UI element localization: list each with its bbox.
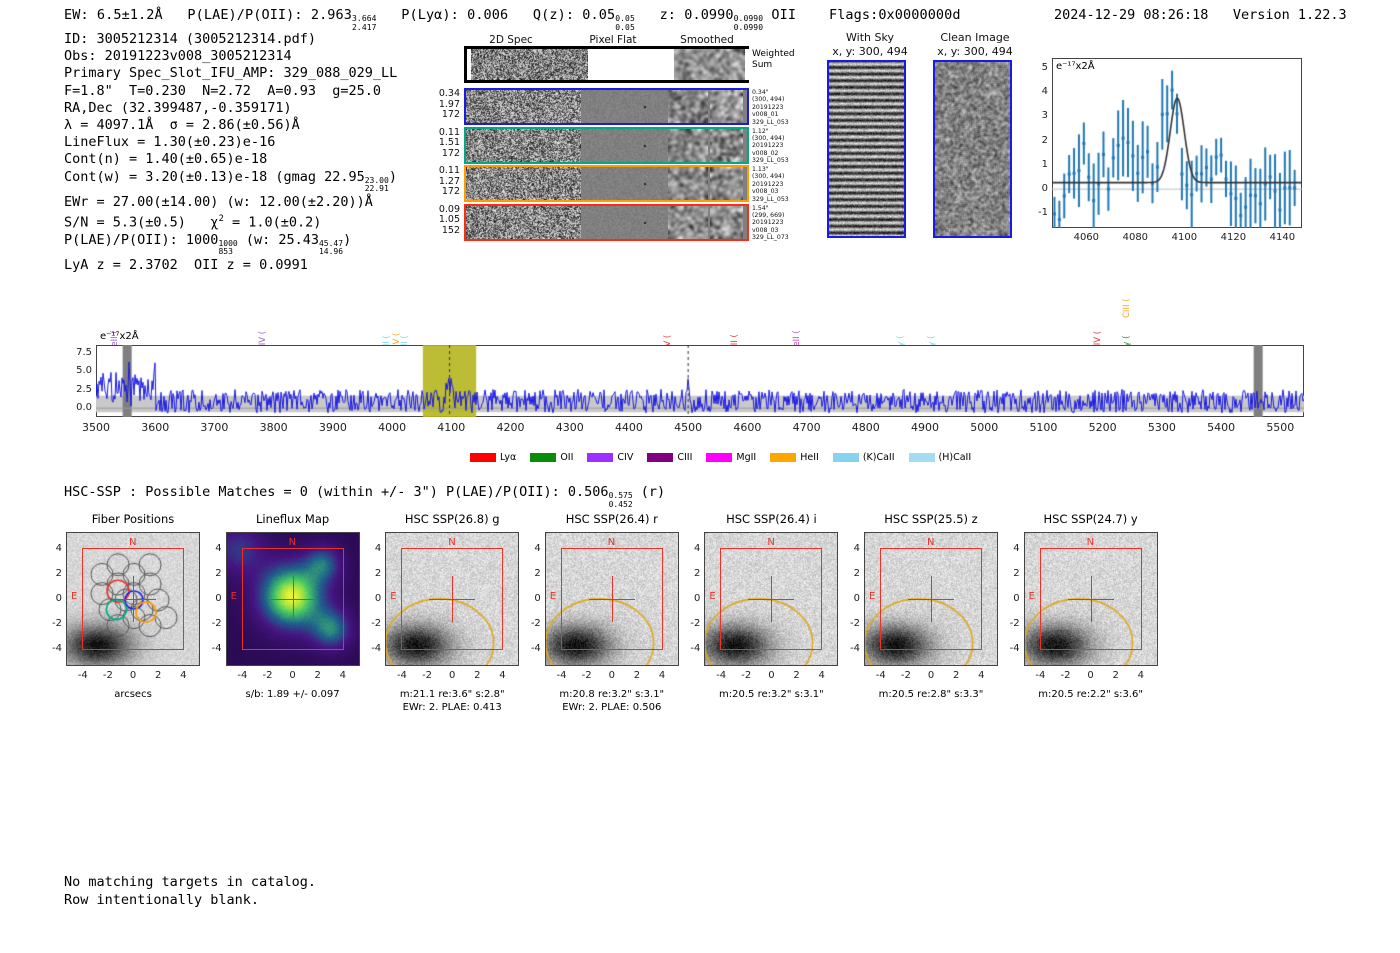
thumbnail-y-tick: 2 [521,568,541,579]
detection-info-block: ID: 3005212314 (3005212314.pdf) Obs: 201… [64,31,397,274]
cutout-subtitle-clean-image: x, y: 300, 494 [920,45,1030,58]
spectrum-x-tick: 5200 [1081,421,1125,434]
thumbnail-east-label: E [869,591,875,602]
thumbnail-caption-line-2: EWr: 2. PLAE: 0.506 [523,701,701,714]
header-version: Version 1.22.3 [1233,7,1347,23]
spectrum-legend-item: MgII [706,452,756,463]
thumbnail-y-tick: 2 [361,568,381,579]
thumbnail-east-label: E [550,591,556,602]
spectrum-x-tick: 4100 [429,421,473,434]
thumbnail-y-tick: -4 [361,643,381,654]
thumbnail-crosshair-v [293,576,294,622]
thumbnail-x-tick: -2 [96,670,120,681]
info-lambda-sigma: λ = 4097.1Å σ = 2.86(±0.56)Å [64,117,397,134]
spec2d-fiber-rows [464,88,749,242]
header-flags: Flags:0x0000000d [829,7,961,23]
full-spectrum-plot: e⁻¹⁷x2Å [96,345,1304,417]
thumbnail-north-label: N [927,537,934,548]
spectrum-legend-swatch [770,453,796,462]
thumbnail-x-tick: -2 [575,670,599,681]
spectrum-legend-label: CIII [677,452,692,463]
thumbnail-y-tick: -2 [1000,618,1020,629]
spectrum-legend-swatch [647,453,673,462]
spec2d-row-right-labels: 1.54"(299, 669)20191223v008_03329_LL_073 [752,205,798,242]
spectrum-x-tick: 5300 [1140,421,1184,434]
thumbnail-title: HSC SSP(24.7) y [1010,512,1172,526]
thumbnail-x-tick: 0 [600,670,624,681]
spectrum-y-tick: 7.5 [62,347,92,358]
line-fit-y-tick: 1 [1026,159,1048,170]
line-fit-x-tick: 4080 [1119,232,1151,243]
thumbnail-north-label: N [129,537,136,548]
spectrum-legend-label: (H)CaII [939,452,972,463]
thumbnail-y-tick: 4 [202,543,222,554]
info-plae-poii: P(LAE)/P(OII): 10001000853 (w: 25.4345.4… [64,232,397,257]
thumbnail-caption-line-1: m:20.5 re:3.2" s:3.1" [682,688,860,701]
header-plae-poii-range: 3.6642.417 [352,15,377,32]
thumbnail-y-tick: 2 [202,568,222,579]
thumbnail-x-tick: -4 [550,670,574,681]
spec2d-weighted-sum-strip [464,46,749,83]
spec2d-row-right-labels: 0.34"(300, 494)20191223v008_01329_LL_053 [752,89,798,126]
thumbnail-east-label: E [71,591,77,602]
spec2d-col-title-smoothed: Smoothed [664,34,750,46]
cutout-clean-image [933,60,1012,238]
thumbnail-y-tick: -4 [1000,643,1020,654]
thumbnail-caption: arcsecs [44,688,222,701]
spectrum-x-tick: 4000 [370,421,414,434]
spec2d-row-left-labels: 0.341.97172 [430,89,460,121]
info-sn-chi2: S/N = 5.3(±0.5) χ2 = 1.0(±0.2) [64,211,397,232]
thumbnail-title: HSC SSP(26.8) g [371,512,533,526]
thumbnail-x-tick: -4 [230,670,254,681]
thumbnail-y-tick: -4 [202,643,222,654]
thumbnail-x-tick: 2 [944,670,968,681]
spectrum-legend-label: OII [560,452,573,463]
spectrum-legend-label: Lyα [500,452,516,463]
info-cont-n: Cont(n) = 1.40(±0.65)e-18 [64,151,397,168]
thumbnail-y-tick: -4 [521,643,541,654]
thumbnail-y-tick: 0 [361,593,381,604]
thumbnail-caption-line-2: EWr: 2. PLAE: 0.413 [363,701,541,714]
thumbnail-caption: m:21.1 re:3.6" s:2.8"EWr: 2. PLAE: 0.413 [363,688,541,714]
header-plae-poii: P(LAE)/P(OII): 2.963 [187,7,352,23]
spectrum-legend-swatch [470,453,496,462]
thumbnail-y-tick: 0 [42,593,62,604]
thumbnail-crosshair-v [452,576,453,622]
info-cont-w: Cont(w) = 3.20(±0.13)e-18 (gmag 22.9523.… [64,169,397,194]
thumbnail-title: Fiber Positions [52,512,214,526]
thumbnail-y-tick: 0 [840,593,860,604]
thumbnail-x-tick: 2 [625,670,649,681]
info-id: ID: 3005212314 (3005212314.pdf) [64,31,397,48]
spectrum-legend-item: (H)CaII [909,452,972,463]
spectrum-x-tick: 4200 [489,421,533,434]
spectrum-legend-item: CIV [587,452,633,463]
spectrum-x-tick: 3500 [74,421,118,434]
line-fit-x-tick: 4060 [1070,232,1102,243]
spectrum-legend-swatch [909,453,935,462]
spectrum-legend-label: CIV [617,452,633,463]
spectrum-y-tick: 5.0 [62,365,92,376]
thumbnail-east-label: E [1029,591,1035,602]
spec2d-row-right-labels: 1.12"(300, 494)20191223v008_02329_LL_053 [752,128,798,165]
spectrum-y-tick: 2.5 [62,384,92,395]
thumbnail-y-tick: 2 [680,568,700,579]
spec2d-fiber-row [464,127,749,164]
spectrum-x-tick: 4400 [607,421,651,434]
thumbnail-x-tick: -4 [390,670,414,681]
thumbnail-x-tick: -4 [1028,670,1052,681]
thumbnail-title: HSC SSP(26.4) r [531,512,693,526]
spec2d-row-right-labels: 1.13"(300, 494)20191223v008_03329_LL_053 [752,166,798,203]
thumbnail-x-tick: 0 [1079,670,1103,681]
spectrum-x-tick: 3600 [133,421,177,434]
thumbnail-y-tick: 0 [1000,593,1020,604]
thumbnail-x-tick: 2 [1104,670,1128,681]
thumbnail-title: HSC SSP(26.4) i [690,512,852,526]
header-qz-range: 0.050.05 [615,15,635,32]
thumbnail-x-tick: 4 [1129,670,1153,681]
spectrum-x-tick: 5100 [1021,421,1065,434]
spectrum-legend-swatch [833,453,859,462]
info-primary-spec: Primary Spec_Slot_IFU_AMP: 329_088_029_L… [64,65,397,82]
thumbnail-x-tick: 0 [759,670,783,681]
thumbnail-caption-line-1: m:20.5 re:2.8" s:3.3" [842,688,1020,701]
spectrum-y-tick: 0.0 [62,402,92,413]
thumbnail-x-tick: 0 [121,670,145,681]
spectrum-x-tick: 3800 [252,421,296,434]
thumbnail-east-label: E [231,591,237,602]
line-fit-y-tick: 3 [1026,110,1048,121]
header-plya: P(Lyα): 0.006 [401,7,508,23]
spectrum-ylabel: e⁻¹⁷x2Å [100,331,139,342]
thumbnail-x-tick: 0 [281,670,305,681]
line-fit-y-tick: 0 [1026,183,1048,194]
thumbnail-caption-line-1: s/b: 1.89 +/- 0.097 [204,688,382,701]
header-qz: Q(z): 0.05 [533,7,615,23]
thumbnail-crosshair-v [612,576,613,622]
info-radec: RA,Dec (32.399487,-0.359171) [64,100,397,117]
thumbnail-crosshair-v [931,576,932,622]
cutout-title-clean-image: Clean Image [920,31,1030,44]
thumbnail-x-tick: 4 [969,670,993,681]
info-redshifts: LyA z = 2.3702 OII z = 0.0991 [64,257,397,274]
thumbnail-caption-line-1: arcsecs [44,688,222,701]
thumbnail-y-tick: -2 [680,618,700,629]
thumbnail-y-tick: -4 [680,643,700,654]
spectrum-x-tick: 5400 [1199,421,1243,434]
thumbnail-caption: m:20.5 re:3.2" s:3.1" [682,688,860,701]
thumbnail-y-tick: 4 [840,543,860,554]
spectrum-legend-item: Lyα [470,452,516,463]
spectrum-x-tick: 4800 [844,421,888,434]
thumbnail-y-tick: 0 [202,593,222,604]
spectrum-legend-item: (K)CaII [833,452,895,463]
cutout-with-sky [827,60,906,238]
spec2d-row-left-labels: 0.111.27172 [430,166,460,198]
spectrum-x-tick: 5500 [1258,421,1302,434]
thumbnail-y-tick: -4 [42,643,62,654]
header-ew: EW: 6.5±1.2Å [64,7,163,23]
thumbnail-y-tick: 4 [361,543,381,554]
thumbnail-y-tick: 4 [42,543,62,554]
thumbnail-caption: m:20.5 re:2.2" s:3.6" [1002,688,1180,701]
header-timestamp: 2024-12-29 08:26:18 [1054,7,1208,23]
line-fit-x-tick: 4140 [1266,232,1298,243]
thumbnail-x-tick: -4 [869,670,893,681]
info-ewr: EWr = 27.00(±14.00) (w: 12.00(±2.20))Å [64,194,397,211]
thumbnail-x-tick: 0 [440,670,464,681]
footer-line-1: No matching targets in catalog. [64,873,316,891]
spectrum-x-tick: 4900 [903,421,947,434]
thumbnail-y-tick: 0 [521,593,541,604]
header-timestamp-version: 2024-12-29 08:26:18 Version 1.22.3 [1054,7,1347,23]
thumbnail-y-tick: -2 [361,618,381,629]
spectrum-legend-label: MgII [736,452,756,463]
thumbnail-x-tick: 2 [146,670,170,681]
spectrum-legend: LyαOIICIVCIIIMgIIHeII(K)CaII(H)CaII [470,452,971,463]
thumbnail-y-tick: 4 [1000,543,1020,554]
thumbnail-crosshair-v [771,576,772,622]
thumbnail-y-tick: -2 [42,618,62,629]
spectrum-x-tick: 4700 [785,421,829,434]
thumbnail-x-tick: 4 [810,670,834,681]
thumbnail-x-tick: -2 [734,670,758,681]
thumbnail-y-tick: -2 [840,618,860,629]
hsc-summary-line: HSC-SSP : Possible Matches = 0 (within +… [64,484,665,509]
line-fit-x-tick: 4100 [1168,232,1200,243]
thumbnail-y-tick: -4 [840,643,860,654]
spectrum-x-tick: 4500 [666,421,710,434]
thumbnail-north-label: N [608,537,615,548]
thumbnail-crosshair-v [133,576,134,622]
spectrum-legend-label: HeII [800,452,819,463]
thumbnail-x-tick: 0 [919,670,943,681]
thumbnail-y-tick: -2 [521,618,541,629]
cutout-title-with-sky: With Sky [820,31,920,44]
spectrum-legend-swatch [530,453,556,462]
thumbnail-north-label: N [767,537,774,548]
info-lineflux: LineFlux = 1.30(±0.23)e-16 [64,134,397,151]
spectrum-legend-item: CIII [647,452,692,463]
spec2d-col-title-pixelflat: Pixel Flat [570,34,656,46]
thumbnail-north-label: N [289,537,296,548]
spectrum-x-tick: 5000 [962,421,1006,434]
spec2d-weighted-sum-label: Weighted Sum [752,49,795,71]
thumbnail-y-tick: 4 [680,543,700,554]
thumbnail-x-tick: -2 [894,670,918,681]
header-z: z: 0.0990 [660,7,734,23]
thumbnail-caption-line-1: m:20.8 re:3.2" s:3.1" [523,688,701,701]
thumbnail-x-tick: -4 [709,670,733,681]
spectrum-x-tick: 4300 [548,421,592,434]
thumbnail-caption-line-1: m:21.1 re:3.6" s:2.8" [363,688,541,701]
cutout-subtitle-with-sky: x, y: 300, 494 [820,45,920,58]
thumbnail-x-tick: 4 [331,670,355,681]
thumbnail-north-label: N [1087,537,1094,548]
thumbnail-y-tick: 2 [840,568,860,579]
spectrum-legend-swatch [706,453,732,462]
thumbnail-x-tick: 4 [650,670,674,681]
info-obs: Obs: 20191223v008_3005212314 [64,48,397,65]
thumbnail-y-tick: 2 [1000,568,1020,579]
thumbnail-y-tick: 0 [680,593,700,604]
line-fit-plot: e⁻¹⁷x2Å [1052,58,1302,228]
thumbnail-y-tick: 2 [42,568,62,579]
thumbnail-x-tick: 4 [171,670,195,681]
thumbnail-y-tick: -2 [202,618,222,629]
header-z-range: 0.09900.0990 [734,15,764,32]
spec2d-row-left-labels: 0.091.05152 [430,205,460,237]
spectrum-x-tick: 3700 [192,421,236,434]
spec2d-fiber-row [464,88,749,125]
spectrum-x-tick: 4600 [725,421,769,434]
thumbnail-caption-line-1: m:20.5 re:2.2" s:3.6" [1002,688,1180,701]
thumbnail-x-tick: 4 [490,670,514,681]
thumbnail-x-tick: -2 [1053,670,1077,681]
thumbnail-title: Lineflux Map [212,512,374,526]
header-z-species: OII [771,7,796,23]
thumbnail-x-tick: -2 [255,670,279,681]
thumbnail-east-label: E [709,591,715,602]
footer-note: No matching targets in catalog. Row inte… [64,873,316,909]
spectrum-legend-item: OII [530,452,573,463]
thumbnail-north-label: N [448,537,455,548]
thumbnail-x-tick: 2 [306,670,330,681]
thumbnail-caption: s/b: 1.89 +/- 0.097 [204,688,382,701]
thumbnail-east-label: E [390,591,396,602]
line-fit-x-tick: 4120 [1217,232,1249,243]
thumbnail-y-tick: 4 [521,543,541,554]
thumbnail-x-tick: -4 [71,670,95,681]
spec2d-row-left-labels: 0.111.51172 [430,128,460,160]
thumbnail-caption: m:20.5 re:2.8" s:3.3" [842,688,1020,701]
thumbnail-x-tick: 2 [785,670,809,681]
spectrum-legend-item: HeII [770,452,819,463]
emission-line-label: CIII ( [1122,299,1132,318]
line-fit-y-tick: 2 [1026,135,1048,146]
spectrum-legend-swatch [587,453,613,462]
thumbnail-x-tick: -2 [415,670,439,681]
spec2d-fiber-row [464,165,749,202]
thumbnail-crosshair-v [1091,576,1092,622]
line-fit-y-tick: 4 [1026,86,1048,97]
footer-line-2: Row intentionally blank. [64,891,316,909]
thumbnail-x-tick: 2 [465,670,489,681]
header-summary-line: EW: 6.5±1.2Å P(LAE)/P(OII): 2.9633.6642.… [64,7,961,32]
line-fit-y-tick: 5 [1026,62,1048,73]
spec2d-fiber-row [464,204,749,241]
thumbnail-caption: m:20.8 re:3.2" s:3.1"EWr: 2. PLAE: 0.506 [523,688,701,714]
spectrum-x-tick: 3900 [311,421,355,434]
line-fit-y-tick: -1 [1026,207,1048,218]
thumbnail-title: HSC SSP(25.5) z [850,512,1012,526]
linefit-ylabel: e⁻¹⁷x2Å [1056,61,1095,72]
info-seeing: F=1.8" T=0.230 N=2.72 A=0.93 g=25.0 [64,83,397,100]
spectrum-legend-label: (K)CaII [863,452,895,463]
spec2d-col-title-2dspec: 2D Spec [468,34,554,46]
